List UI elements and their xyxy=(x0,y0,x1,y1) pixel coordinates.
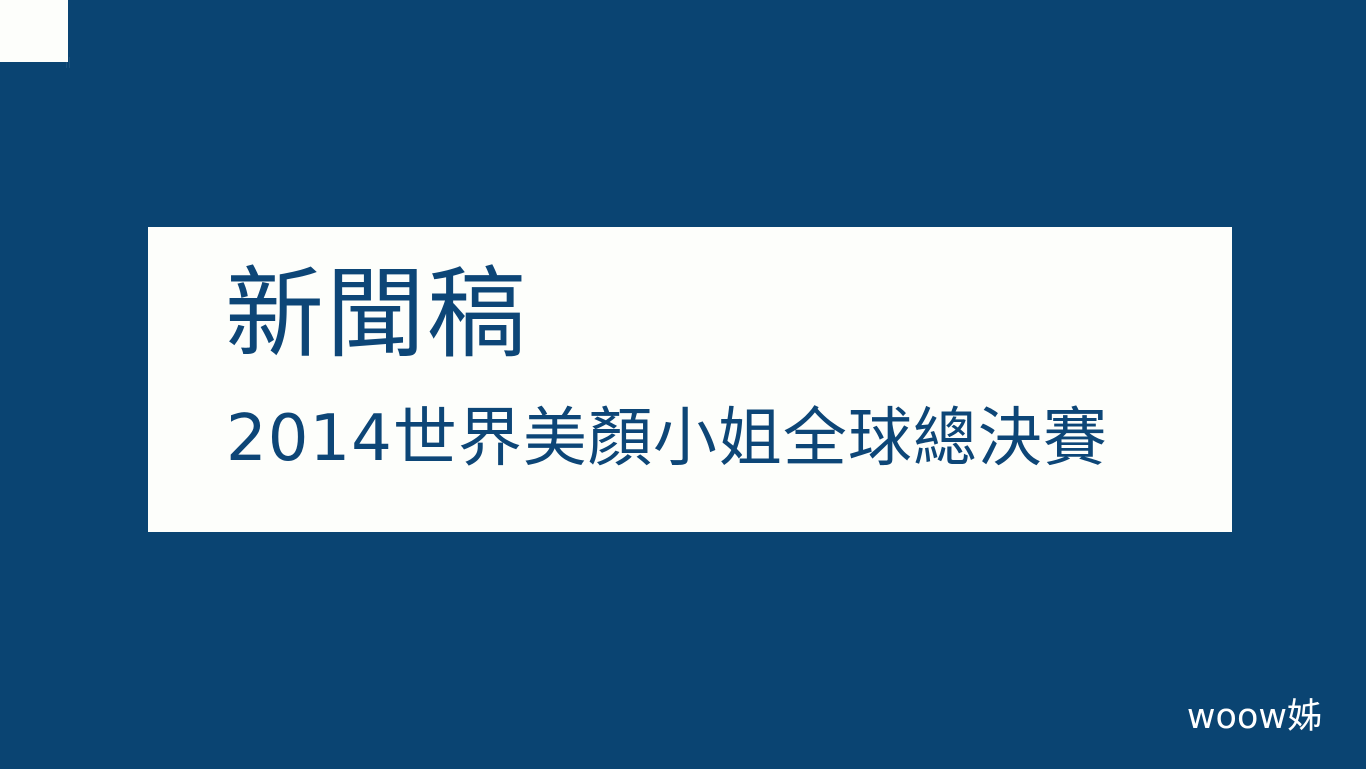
corner-artifact-mark xyxy=(66,57,76,68)
watermark-label: woow姊 xyxy=(1187,700,1322,735)
slide-subtitle: 2014世界美顏小姐全球總決賽 xyxy=(226,407,1108,471)
presentation-slide: 新聞稿 2014世界美顏小姐全球總決賽 woow姊 xyxy=(0,0,1366,769)
slide-title: 新聞稿 xyxy=(225,265,528,364)
title-content-panel: 新聞稿 2014世界美顏小姐全球總決賽 xyxy=(148,227,1232,532)
corner-accent-block xyxy=(0,0,68,62)
